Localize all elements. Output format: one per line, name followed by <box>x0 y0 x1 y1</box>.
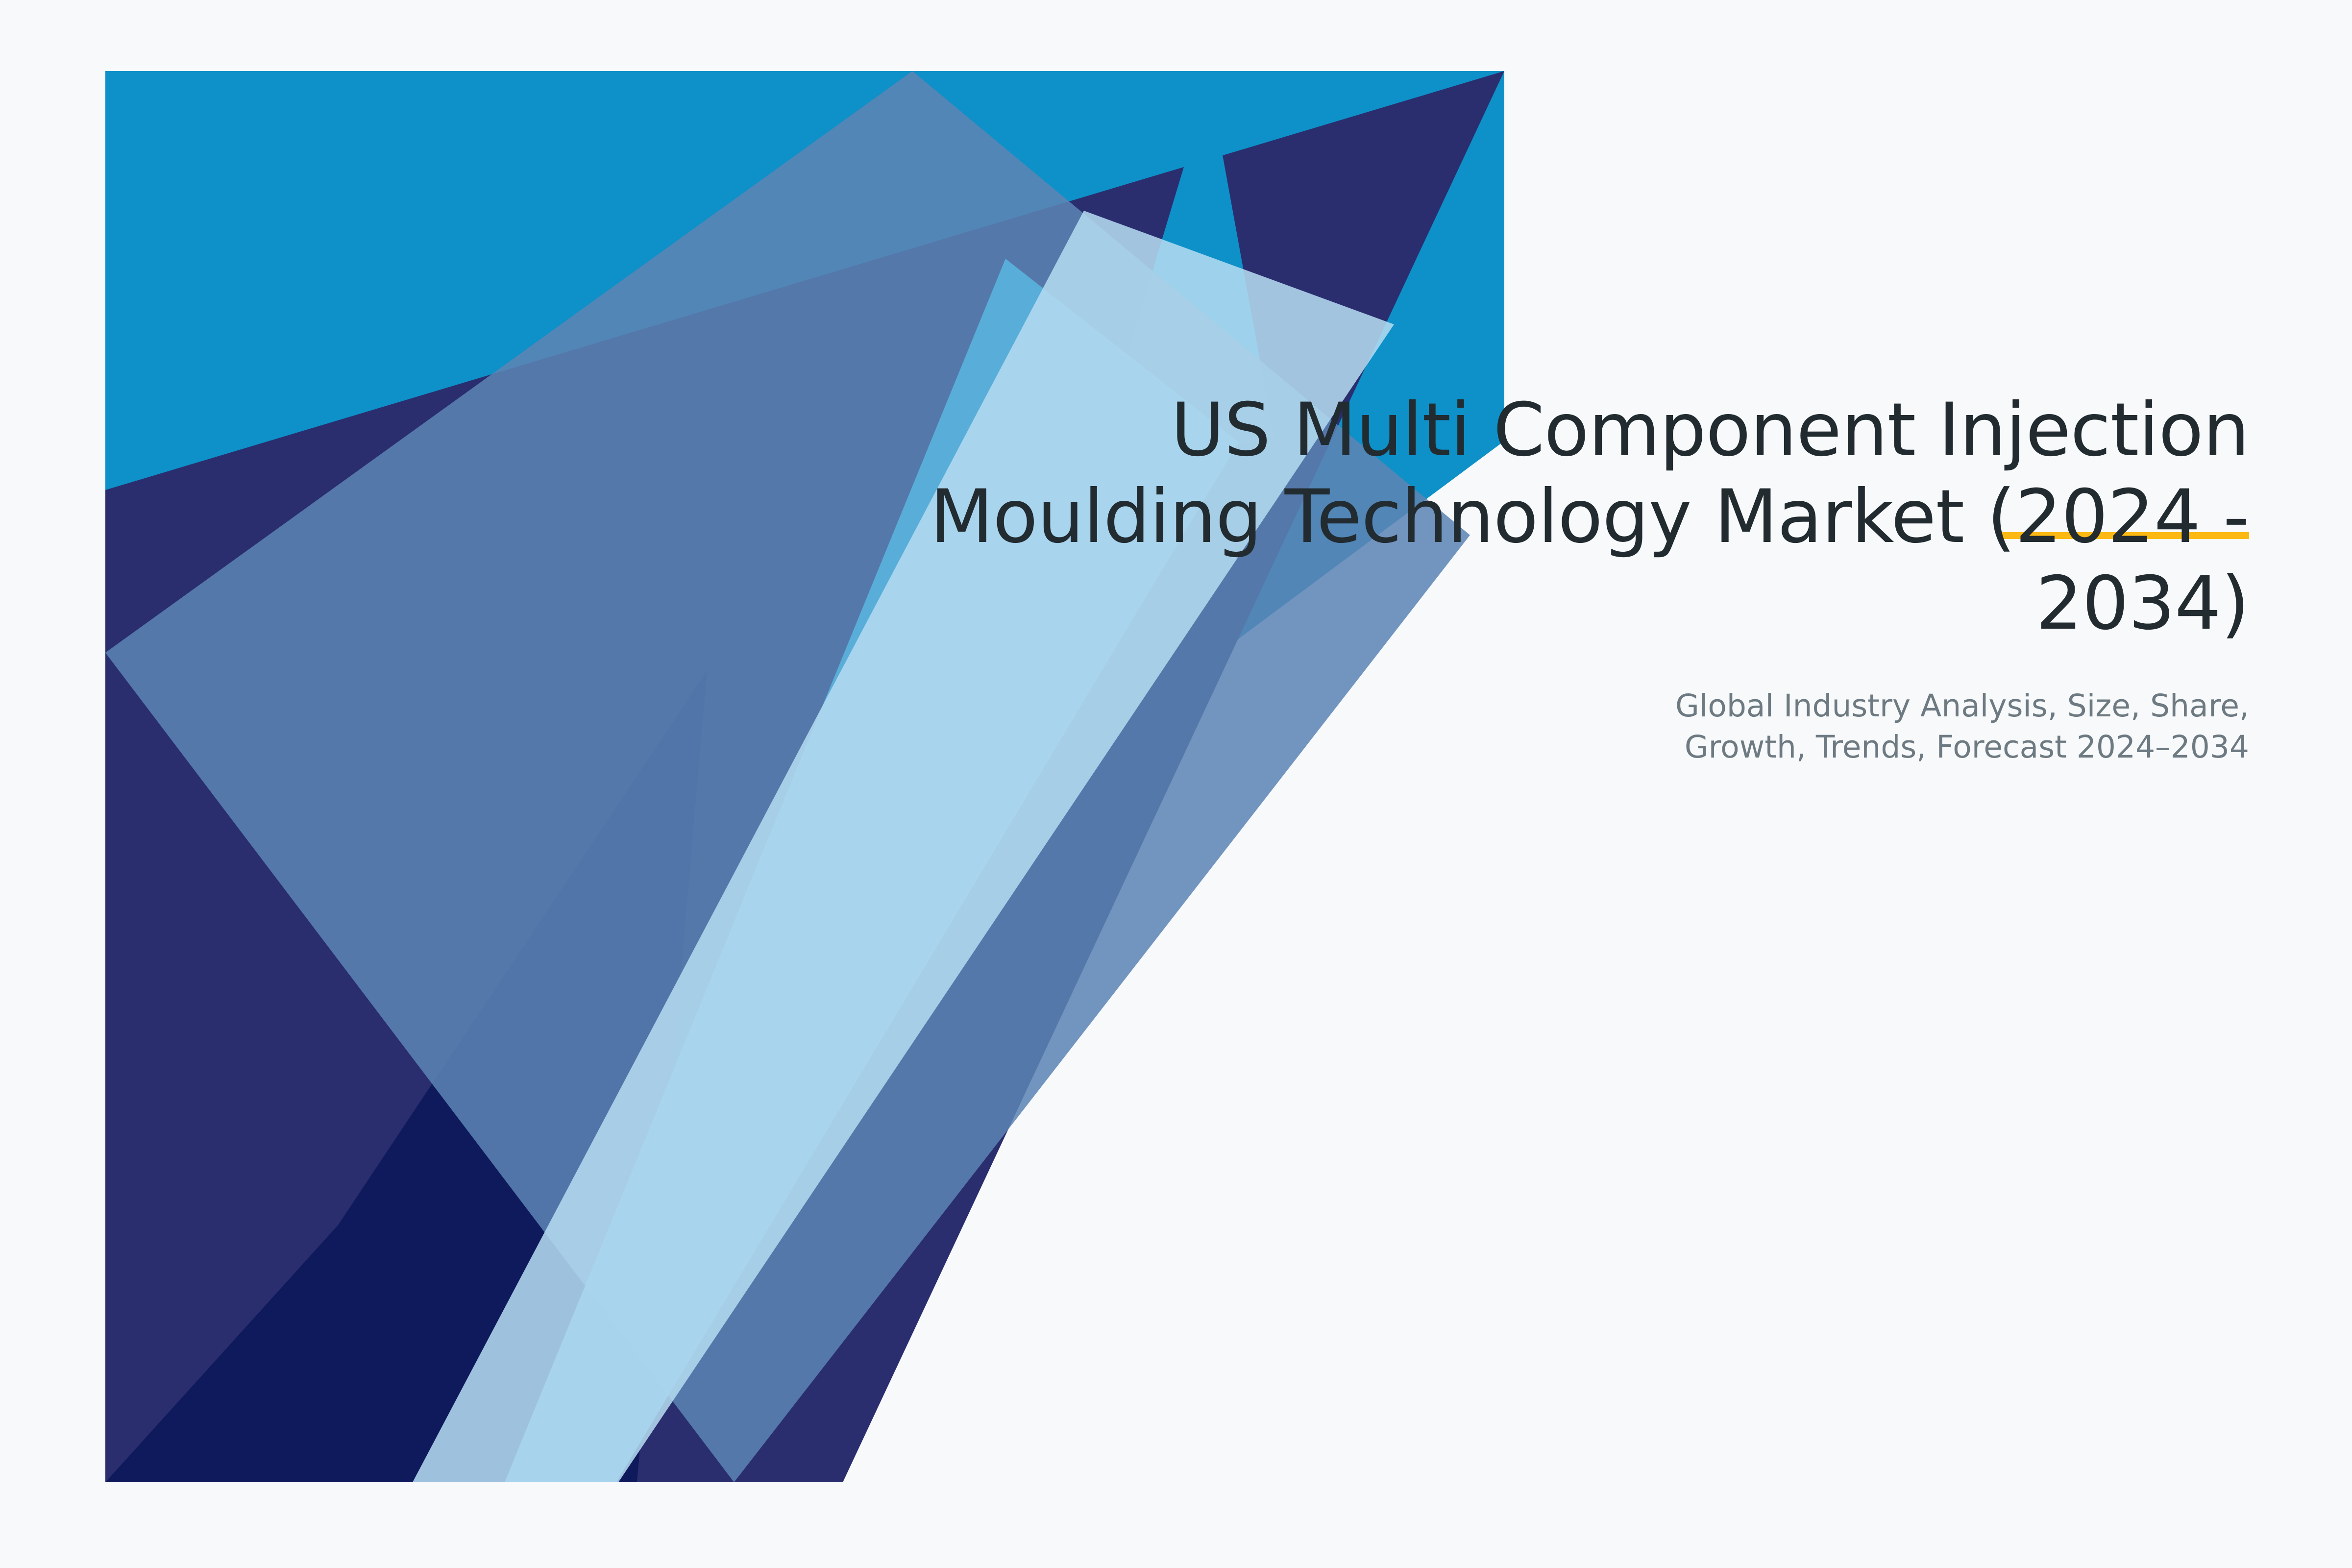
page-title: US Multi Component InjectionMoulding Tec… <box>926 387 2249 647</box>
subtitle-line-1: Global Industry Analysis, Size, Share, <box>1675 688 2249 724</box>
shape-cyan-field <box>105 71 1504 1482</box>
shape-slate-overlay <box>105 71 1470 1482</box>
page-subtitle: Global Industry Analysis, Size, Share,Gr… <box>1632 686 2249 768</box>
subtitle-line-2: Growth, Trends, Forecast 2024–2034 <box>1685 729 2249 765</box>
cover-artwork <box>0 0 2352 1568</box>
title-line-2: Moulding Technology Market (2024 - <box>930 474 2249 560</box>
title-line-3: 2034) <box>2036 561 2249 646</box>
cover-text-block: US Multi Component InjectionMoulding Tec… <box>926 387 2249 768</box>
shape-deep-navy-spike <box>105 670 707 1482</box>
report-cover: US Multi Component InjectionMoulding Tec… <box>0 0 2352 1568</box>
title-line-1: US Multi Component Injection <box>1171 388 2249 473</box>
shape-navy-top-triangle <box>105 71 1504 1482</box>
title-wrap: US Multi Component InjectionMoulding Tec… <box>926 387 2249 647</box>
